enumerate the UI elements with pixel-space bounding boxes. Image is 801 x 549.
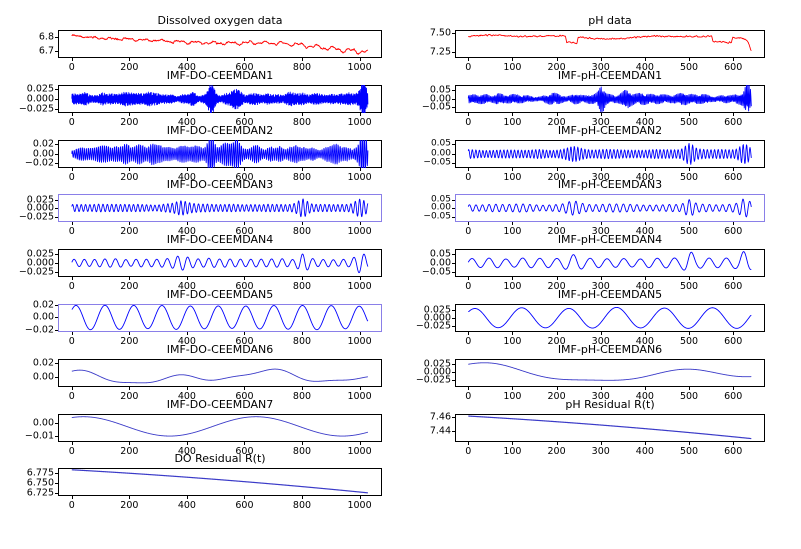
y-tick-mark [55,109,58,110]
y-tick-labels-do-imf5: −0.020.000.02 [0,304,54,332]
x-tick-label: 200 [547,447,565,457]
y-tick-mark [452,263,455,264]
y-tick-labels-ph-imf5: −0.0250.0000.025 [391,304,451,332]
y-tick-label: 0.00 [430,258,451,268]
y-tick-mark [452,254,455,255]
y-tick-labels-ph-imf4: −0.050.000.05 [391,249,451,277]
plot-panel-ph-imf1: IMF-pH-CEEMDAN1−0.050.000.05010020030040… [400,69,801,129]
plot-panel-do-imf4: IMF-DO-CEEMDAN4−0.0250.0000.025020040060… [0,233,400,293]
plot-panel-do-imf2: IMF-DO-CEEMDAN2−0.020.000.02020040060080… [0,124,400,184]
series-line-do-imf1 [58,85,382,113]
panel-title-ph-imf6: IMF-pH-CEEMDAN6 [455,343,765,357]
axes-do-imf1: −0.0250.0000.02502004006008001000 [58,85,382,113]
y-tick-mark [55,317,58,318]
y-tick-mark [55,483,58,484]
y-tick-label: −0.05 [423,212,451,221]
series-line-do-imf7 [58,414,382,442]
panel-title-ph-imf2: IMF-pH-CEEMDAN2 [455,124,765,138]
y-tick-mark [452,380,455,381]
y-tick-label: 6.725 [27,488,54,498]
y-tick-label: 0.025 [424,360,451,370]
y-tick-label: 0.000 [27,258,54,268]
y-tick-labels-ph-imf6: −0.0250.0000.025 [391,359,451,387]
series-line-do-imf6 [58,359,382,387]
axes-ph-residual: 7.447.460100200300400500600 [455,414,765,442]
y-tick-mark [55,330,58,331]
x-tick-label: 600 [235,501,253,511]
y-tick-mark [55,144,58,145]
y-tick-label: 0.05 [430,86,451,96]
axes-do-imf5: −0.020.000.0202004006008001000 [58,304,382,332]
series-line-do-imf2 [58,140,382,168]
series-line-ph-imf6 [455,359,765,387]
series-line-ph-imf5 [455,304,765,332]
panel-title-do-imf3: IMF-DO-CEEMDAN3 [58,178,382,192]
plot-panel-do-imf3: IMF-DO-CEEMDAN3−0.0250.0000.025020040060… [0,178,400,238]
y-tick-mark [452,33,455,34]
y-tick-mark [452,318,455,319]
panel-title-do-imf4: IMF-DO-CEEMDAN4 [58,233,382,247]
x-tick-label: 1000 [347,501,371,511]
y-tick-label: −0.02 [25,325,54,335]
plot-panel-do-imf5: IMF-DO-CEEMDAN5−0.020.000.02020040060080… [0,288,400,348]
x-tick-labels-ph-residual: 0100200300400500600 [455,442,765,458]
y-tick-label: 0.025 [424,305,451,315]
x-tick-label: 200 [120,501,138,511]
y-tick-mark [452,217,455,218]
y-tick-label: 0.00 [33,313,54,323]
y-tick-mark [55,254,58,255]
y-tick-mark [452,208,455,209]
y-tick-mark [55,51,58,52]
y-tick-label: 0.02 [33,358,54,368]
y-tick-mark [452,372,455,373]
y-tick-mark [55,263,58,264]
y-tick-label: 6.775 [27,468,54,478]
y-tick-label: 0.025 [27,250,54,260]
y-tick-mark [55,377,58,378]
y-tick-label: 0.05 [431,140,451,149]
plot-panel-do-imf7: IMF-DO-CEEMDAN7−0.010.000200400600800100… [0,398,400,458]
axes-do-raw: 6.76.802004006008001000 [58,30,382,58]
y-tick-labels-ph-imf3: −0.050.000.05 [391,194,451,222]
axes-do-residual: 6.7256.7506.77502004006008001000 [58,468,382,496]
y-tick-label: 0.02 [33,139,54,149]
y-tick-mark [55,217,58,218]
y-tick-label: 0.025 [27,195,54,205]
axes-ph-imf6: −0.0250.0000.0250100200300400500600 [455,359,765,387]
series-line-do-imf4 [58,249,382,277]
y-tick-label: 0.00 [33,418,54,428]
series-line-ph-raw [455,30,765,58]
panel-title-ph-imf5: IMF-pH-CEEMDAN5 [455,288,765,302]
y-tick-label: 0.025 [27,84,54,94]
y-tick-mark [452,272,455,273]
y-tick-mark [452,52,455,53]
x-tick-label: 500 [680,447,698,457]
plot-panel-ph-imf6: IMF-pH-CEEMDAN6−0.0250.0000.025010020030… [400,343,801,403]
plot-panel-do-imf6: IMF-DO-CEEMDAN60.000.0202004006008001000 [0,343,400,403]
series-line-ph-imf3 [455,194,765,222]
series-line-do-imf5 [58,304,382,332]
y-tick-label: −0.05 [423,158,451,167]
axes-ph-imf2: −0.050.000.050100200300400500600 [455,140,765,168]
x-tick-label: 400 [636,447,654,457]
plot-panel-ph-imf4: IMF-pH-CEEMDAN4−0.050.000.05010020030040… [400,233,801,293]
y-tick-labels-do-imf1: −0.0250.0000.025 [0,85,54,113]
y-tick-mark [55,363,58,364]
panel-title-ph-raw: pH data [455,14,765,28]
panel-title-do-imf7: IMF-DO-CEEMDAN7 [58,398,382,412]
plot-panel-ph-residual: pH Residual R(t)7.447.460100200300400500… [400,398,801,458]
y-tick-mark [452,364,455,365]
series-line-do-imf3 [58,194,382,222]
y-tick-label: 7.46 [430,413,451,423]
series-line-do-raw [58,30,382,58]
plot-panel-ph-imf2: IMF-pH-CEEMDAN2−0.050.000.05010020030040… [400,124,801,184]
y-tick-label: 6.7 [39,47,54,57]
y-tick-labels-do-residual: 6.7256.7506.775 [0,468,54,496]
y-tick-labels-do-imf2: −0.020.000.02 [0,140,54,168]
y-tick-labels-do-imf7: −0.010.00 [0,414,54,442]
series-line-ph-residual [455,414,765,442]
y-tick-mark [55,436,58,437]
y-tick-labels-ph-imf2: −0.050.000.05 [391,140,451,168]
panel-title-ph-residual: pH Residual R(t) [455,398,765,412]
plot-panel-ph-raw: pH data7.257.500100200300400500600 [400,14,801,74]
y-tick-mark [55,89,58,90]
panel-title-do-residual: DO Residual R(t) [58,452,382,466]
axes-do-imf3: −0.0250.0000.02502004006008001000 [58,194,382,222]
axes-do-imf7: −0.010.0002004006008001000 [58,414,382,442]
y-tick-label: −0.025 [19,212,54,222]
y-tick-label: −0.01 [25,431,54,441]
y-tick-label: 0.000 [27,204,54,214]
y-tick-mark [452,99,455,100]
y-tick-mark [452,154,455,155]
y-tick-label: 0.00 [431,149,451,158]
panel-title-do-raw: Dissolved oxygen data [58,14,382,28]
y-tick-label: 0.05 [431,195,451,204]
axes-do-imf6: 0.000.0202004006008001000 [58,359,382,387]
y-tick-labels-ph-raw: 7.257.50 [391,30,451,58]
plot-panel-do-imf1: IMF-DO-CEEMDAN1−0.0250.0000.025020040060… [0,69,400,129]
y-tick-label: −0.05 [422,267,451,277]
panel-title-do-imf6: IMF-DO-CEEMDAN6 [58,343,382,357]
dissolved-oxygen-column: Dissolved oxygen data6.76.80200400600800… [0,0,400,549]
y-tick-label: 0.000 [27,94,54,104]
y-tick-label: 0.00 [33,372,54,382]
y-tick-labels-ph-imf1: −0.050.000.05 [391,85,451,113]
series-line-do-residual [58,468,382,496]
y-tick-mark [55,305,58,306]
plot-panel-do-residual: DO Residual R(t)6.7256.7506.775020040060… [0,452,400,512]
panel-title-ph-imf1: IMF-pH-CEEMDAN1 [455,69,765,83]
y-tick-labels-do-imf3: −0.0250.0000.025 [0,194,54,222]
y-tick-mark [55,37,58,38]
axes-ph-imf4: −0.050.000.050100200300400500600 [455,249,765,277]
y-tick-labels-do-imf6: 0.000.02 [0,359,54,387]
x-tick-label: 600 [724,447,742,457]
y-tick-label: −0.025 [19,267,54,277]
ph-column: pH data7.257.500100200300400500600IMF-pH… [400,0,801,549]
x-tick-label: 400 [178,501,196,511]
y-tick-mark [452,144,455,145]
plot-panel-ph-imf5: IMF-pH-CEEMDAN5−0.0250.0000.025010020030… [400,288,801,348]
y-tick-mark [55,200,58,201]
panel-title-do-imf5: IMF-DO-CEEMDAN5 [58,288,382,302]
y-tick-mark [452,326,455,327]
y-tick-mark [55,423,58,424]
y-tick-label: 6.8 [39,32,54,42]
x-tick-labels-do-residual: 02004006008001000 [58,496,382,512]
panel-title-do-imf1: IMF-DO-CEEMDAN1 [58,69,382,83]
x-tick-label: 0 [465,447,471,457]
axes-ph-imf5: −0.0250.0000.0250100200300400500600 [455,304,765,332]
y-tick-mark [452,90,455,91]
y-tick-mark [55,154,58,155]
series-line-ph-imf1 [455,85,765,113]
series-line-ph-imf4 [455,249,765,277]
y-tick-mark [55,208,58,209]
plot-panel-ph-imf3: IMF-pH-CEEMDAN3−0.050.000.05010020030040… [400,178,801,238]
y-tick-mark [452,431,455,432]
axes-ph-raw: 7.257.500100200300400500600 [455,30,765,58]
y-tick-label: 7.25 [430,48,451,58]
y-tick-mark [452,310,455,311]
y-tick-mark [55,493,58,494]
axes-ph-imf1: −0.050.000.050100200300400500600 [455,85,765,113]
y-tick-labels-do-raw: 6.76.8 [0,30,54,58]
y-tick-label: 0.00 [33,149,54,159]
panel-title-do-imf2: IMF-DO-CEEMDAN2 [58,124,382,138]
y-tick-mark [452,107,455,108]
y-tick-label: −0.02 [25,158,54,168]
y-tick-label: 7.44 [430,426,451,436]
y-tick-labels-do-imf4: −0.0250.0000.025 [0,249,54,277]
y-tick-label: 0.00 [431,204,451,213]
axes-do-imf2: −0.020.000.0202004006008001000 [58,140,382,168]
axes-ph-imf3: −0.050.000.050100200300400500600 [455,194,765,222]
y-tick-label: 7.50 [430,29,451,39]
ceemdan-decomposition-figure: Dissolved oxygen data6.76.80200400600800… [0,0,801,549]
plot-panel-do-raw: Dissolved oxygen data6.76.80200400600800… [0,14,400,74]
y-tick-mark [452,163,455,164]
panel-title-ph-imf4: IMF-pH-CEEMDAN4 [455,233,765,247]
panel-title-ph-imf3: IMF-pH-CEEMDAN3 [455,178,765,192]
series-line-ph-imf2 [455,140,765,168]
axes-do-imf4: −0.0250.0000.02502004006008001000 [58,249,382,277]
y-tick-label: 0.05 [430,250,451,260]
x-tick-label: 100 [503,447,521,457]
y-tick-mark [55,473,58,474]
y-tick-label: 6.750 [27,478,54,488]
y-tick-mark [55,163,58,164]
y-tick-mark [55,272,58,273]
y-tick-mark [452,200,455,201]
x-tick-label: 300 [592,447,610,457]
y-tick-mark [55,99,58,100]
y-tick-mark [452,417,455,418]
x-tick-label: 800 [293,501,311,511]
y-tick-label: 0.02 [33,300,54,310]
y-tick-labels-ph-residual: 7.447.46 [391,414,451,442]
y-tick-label: −0.025 [19,104,54,114]
x-tick-label: 0 [69,501,75,511]
